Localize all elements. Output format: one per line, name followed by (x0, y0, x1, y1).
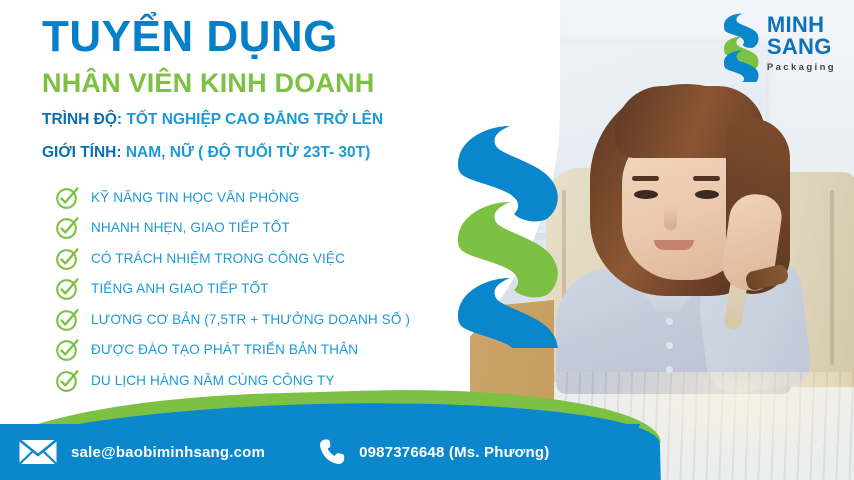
list-item-label: NHANH NHẸN, GIAO TIẾP TỐT (91, 220, 290, 235)
company-logo[interactable]: MINH SANG Packaging (722, 12, 836, 82)
list-item-label: TIẾNG ANH GIAO TIẾP TỐT (91, 281, 269, 296)
photo-eye (695, 190, 719, 199)
headline-block: TUYỂN DỤNG NHÂN VIÊN KINH DOANH TRÌNH ĐỘ… (42, 14, 442, 165)
check-circle-icon (55, 246, 80, 271)
page-title: TUYỂN DỤNG (42, 14, 442, 61)
contact-bar: sale@baobiminhsang.com 0987376648 (Ms. P… (0, 424, 640, 480)
photo-chair-seam (830, 190, 834, 365)
photo-eyebrow (632, 176, 659, 181)
logo-line-2: SANG (767, 36, 836, 58)
photo-shirt-button (666, 342, 673, 349)
list-item: ĐƯỢC ĐÀO TẠO PHÁT TRIỂN BẢN THÂN (55, 335, 410, 366)
photo-mouth (654, 240, 694, 250)
photo-eyebrow (693, 176, 720, 181)
check-circle-icon (55, 276, 80, 301)
requirements-list: KỸ NĂNG TIN HỌC VĂN PHÒNG NHANH NHẸN, GI… (55, 182, 410, 396)
photo-nose (664, 206, 677, 230)
phone-icon (317, 437, 347, 467)
check-circle-icon (55, 215, 80, 240)
requirement-education-value: TỐT NGHIỆP CAO ĐẲNG TRỞ LÊN (126, 111, 383, 128)
ribbon-mark-icon (452, 122, 564, 348)
requirement-education: TRÌNH ĐỘ: TỐT NGHIỆP CAO ĐẲNG TRỞ LÊN (42, 108, 442, 132)
minh-sang-ribbon-icon (722, 12, 760, 82)
requirement-gender: GIỚI TÍNH: NAM, NỮ ( ĐỘ TUỔI TỪ 23T- 30T… (42, 141, 442, 165)
contact-email[interactable]: sale@baobiminhsang.com (18, 437, 265, 467)
list-item: KỸ NĂNG TIN HỌC VĂN PHÒNG (55, 182, 410, 213)
list-item: TIẾNG ANH GIAO TIẾP TỐT (55, 274, 410, 305)
requirement-education-label: TRÌNH ĐỘ: (42, 111, 122, 128)
list-item-label: DU LỊCH HÀNG NĂM CÙNG CÔNG TY (91, 373, 335, 388)
check-circle-icon (55, 337, 80, 362)
list-item-label: KỸ NĂNG TIN HỌC VĂN PHÒNG (91, 190, 299, 205)
list-item-label: CÓ TRÁCH NHIỆM TRONG CÔNG VIỆC (91, 251, 345, 266)
check-circle-icon (55, 368, 80, 393)
logo-line-1: MINH (767, 14, 836, 36)
list-item: NHANH NHẸN, GIAO TIẾP TỐT (55, 213, 410, 244)
list-item-label: LƯƠNG CƠ BẢN (7,5TR + THƯỞNG DOANH SỐ ) (91, 312, 410, 327)
requirement-gender-label: GIỚI TÍNH: (42, 144, 122, 161)
list-item-label: ĐƯỢC ĐÀO TẠO PHÁT TRIỂN BẢN THÂN (91, 342, 358, 357)
email-address: sale@baobiminhsang.com (71, 444, 265, 461)
envelope-icon (18, 437, 58, 467)
check-circle-icon (55, 185, 80, 210)
check-circle-icon (55, 307, 80, 332)
recruitment-banner: TUYỂN DỤNG NHÂN VIÊN KINH DOANH TRÌNH ĐỘ… (0, 0, 854, 480)
page-subtitle: NHÂN VIÊN KINH DOANH (42, 67, 442, 99)
phone-number: 0987376648 (Ms. Phương) (359, 444, 549, 461)
list-item: CÓ TRÁCH NHIỆM TRONG CÔNG VIỆC (55, 243, 410, 274)
photo-eye (634, 190, 658, 199)
logo-tagline: Packaging (767, 62, 836, 73)
contact-phone[interactable]: 0987376648 (Ms. Phương) (317, 437, 549, 467)
logo-wordmark: MINH SANG Packaging (767, 12, 836, 73)
list-item: LƯƠNG CƠ BẢN (7,5TR + THƯỞNG DOANH SỐ ) (55, 304, 410, 335)
requirement-gender-value: NAM, NỮ ( ĐỘ TUỔI TỪ 23T- 30T) (126, 144, 370, 161)
photo-shirt-button (666, 318, 673, 325)
